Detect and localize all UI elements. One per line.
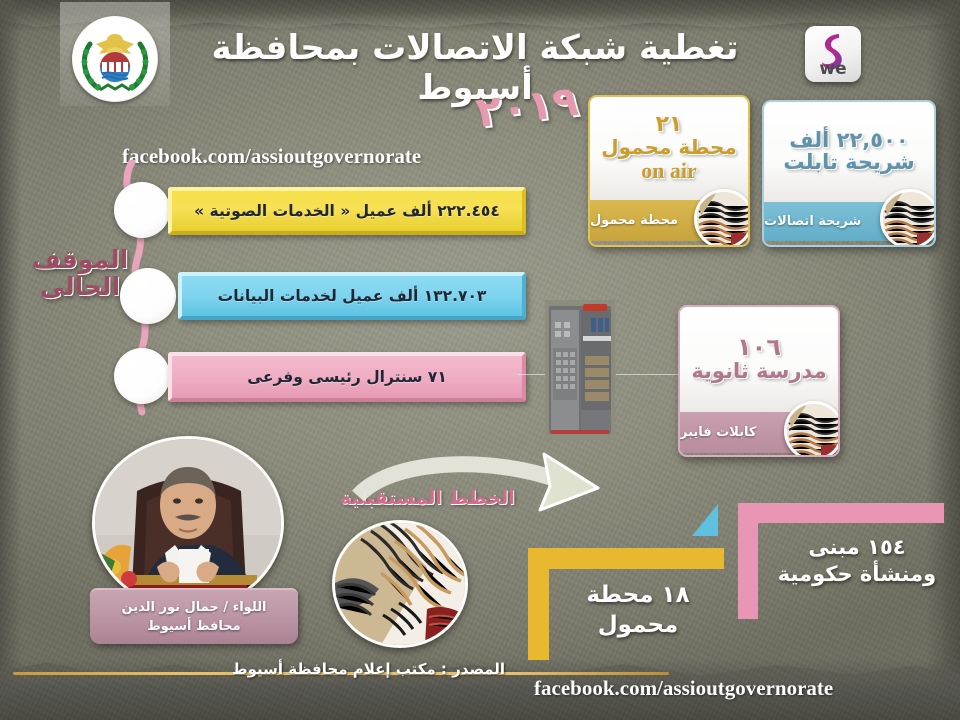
card-mobile-stations-label: محطة محمول	[601, 136, 736, 158]
assiut-governorate-emblem	[72, 16, 158, 102]
we-telecom-logo: we	[805, 26, 861, 82]
timeline-node-2	[120, 268, 176, 324]
card-secondary-schools-label: مدرسة ثانوية	[691, 360, 826, 384]
stat-bar-exchanges-text: ٧١ سنترال رئيسى وفرعى	[233, 368, 461, 386]
stat-bar-exchanges[interactable]: ٧١ سنترال رئيسى وفرعى	[168, 352, 526, 402]
stat-bar-data-services-text: ١٣٢.٧٠٣ ألف عميل لخدمات البيانات	[204, 287, 501, 305]
card-mobile-stations-onair-text: on air	[641, 158, 697, 184]
we-wordmark: we	[819, 59, 846, 79]
torn-edge-left	[0, 0, 22, 720]
timeline-node-3	[114, 348, 170, 404]
plan-government-buildings-line-1: ١٥٤ مبنى	[762, 534, 952, 561]
fiber-cable-circle-photo	[332, 520, 468, 648]
fiber-cable-photo	[694, 189, 750, 247]
card-tablet-sim-cards[interactable]: ٢٢,٥٠٠ ألف شريحة تابلت شريحة اتصالات	[762, 100, 936, 247]
card-tablet-sim-label: شريحة تابلت	[783, 151, 914, 175]
plan-mobile-stations-line-2: محمول	[556, 611, 720, 641]
plan-bracket-mobile-stations-side	[528, 548, 549, 660]
plan-text-government-buildings: ١٥٤ مبنى ومنشأة حكومية	[762, 534, 952, 589]
governor-nameplate: اللواء / جمال نور الدين محافظ أسيوط	[90, 588, 298, 644]
governor-portrait	[92, 436, 284, 610]
plan-bracket-government-buildings-side	[738, 503, 758, 619]
fiber-cable-photo	[880, 189, 936, 247]
card-tablet-sim-footer: شريحة اتصالات	[764, 214, 871, 229]
stat-bar-voice-services[interactable]: ٢٢٢.٤٥٤ ألف عميل « الخدمات الصوتية »	[168, 187, 526, 235]
plan-government-buildings-line-2: ومنشأة حكومية	[762, 561, 952, 588]
curved-arrow-icon	[352, 452, 612, 522]
card-mobile-stations-number: ٢١	[656, 113, 683, 136]
stat-bar-voice-services-text: ٢٢٢.٤٥٤ ألف عميل « الخدمات الصوتية »	[180, 202, 514, 220]
plan-text-mobile-stations: ١٨ محطة محمول	[556, 581, 720, 641]
plan-mobile-stations-line-1: ١٨ محطة	[556, 581, 720, 611]
governor-name: اللواء / جمال نور الدين	[122, 598, 267, 618]
source-credit: المصدر : مكتب إعلام محافظة أسيوط	[232, 660, 505, 678]
blue-triangle-accent	[692, 504, 718, 536]
card-mobile-stations-footer: محطة محمول	[590, 213, 688, 228]
card-secondary-schools[interactable]: ١٠٦ مدرسة ثانوية كابلات فايبر	[678, 305, 840, 457]
timeline-node-1	[114, 182, 170, 238]
card-secondary-schools-number: ١٠٦	[737, 335, 781, 360]
fiber-cable-photo	[784, 401, 840, 457]
plan-bracket-government-buildings-top	[738, 503, 944, 523]
card-mobile-stations-onair[interactable]: ٢١ محطة محمول on air محطة محمول	[588, 95, 750, 247]
infographic-canvas: we تغطية شبكة الاتصالات بمحافظة أسيوط ٢٠…	[0, 0, 960, 720]
card-tablet-sim-number: ٢٢,٥٠٠ ألف	[789, 129, 908, 151]
plan-bracket-mobile-stations-top	[528, 548, 724, 569]
telecom-cabinet-photo	[545, 300, 615, 440]
card-secondary-schools-footer: كابلات فايبر	[680, 425, 766, 440]
governor-role: محافظ أسيوط	[147, 617, 240, 637]
connector-line-right	[616, 374, 682, 375]
facebook-url-bottom[interactable]: facebook.com/assioutgovernorate	[534, 676, 833, 701]
stat-bar-data-services[interactable]: ١٣٢.٧٠٣ ألف عميل لخدمات البيانات	[178, 272, 526, 320]
